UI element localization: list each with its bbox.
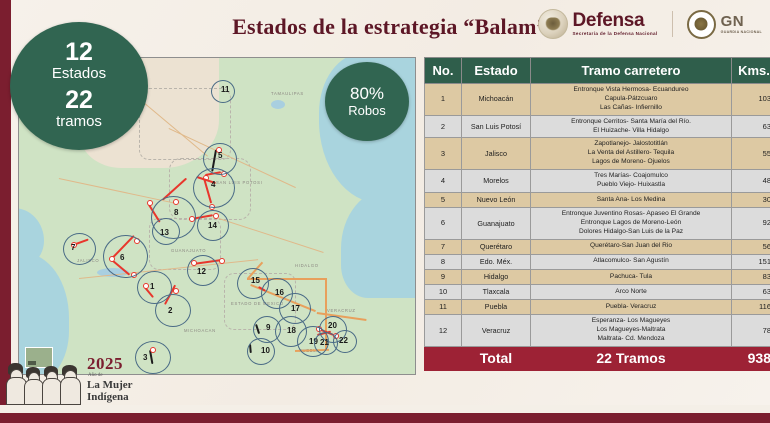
cell-tramo: Pachuca- Tula bbox=[531, 269, 732, 284]
cell-estado: San Luis Potosí bbox=[462, 115, 531, 138]
map-marker-12[interactable]: 12 bbox=[197, 267, 206, 276]
map-marker-6[interactable]: 6 bbox=[120, 253, 124, 262]
col-header-no: No. bbox=[425, 58, 462, 84]
total-tramos: 22 Tramos bbox=[531, 347, 732, 371]
cell-tramo: Entronque Juventino Rosas- Apaseo El Gra… bbox=[531, 208, 732, 240]
tramos-label: tramos bbox=[56, 113, 102, 132]
cell-no: 6 bbox=[425, 208, 462, 240]
cell-estado: Guanajuato bbox=[462, 208, 531, 240]
cell-no: 12 bbox=[425, 315, 462, 347]
indigenous-women-illustration-icon bbox=[6, 361, 84, 405]
cell-kms: 103 bbox=[732, 84, 770, 116]
cell-kms: 63 bbox=[732, 115, 770, 138]
cell-estado: Nuevo León bbox=[462, 192, 531, 207]
stat-bubble-estados: 12 Estados 22 tramos bbox=[10, 22, 148, 150]
map-marker-13[interactable]: 13 bbox=[160, 228, 169, 237]
cell-estado: Veracruz bbox=[462, 315, 531, 347]
map-state-label: TAMAULIPAS bbox=[271, 91, 304, 96]
map-marker-20[interactable]: 20 bbox=[328, 321, 337, 330]
cell-kms: 63 bbox=[732, 285, 770, 300]
map-marker-4[interactable]: 4 bbox=[211, 180, 215, 189]
robos-label: Robos bbox=[348, 103, 386, 119]
map-marker-1[interactable]: 1 bbox=[150, 282, 154, 291]
map-state-label: HIDALGO bbox=[295, 263, 319, 268]
cell-kms: 116 bbox=[732, 300, 770, 315]
cell-tramo: Esperanza- Los MagueyesLos Magueyes-Malt… bbox=[531, 315, 732, 347]
cell-estado: Jalisco bbox=[462, 138, 531, 170]
tramos-table: No. Estado Tramo carretero Kms. 1Michoac… bbox=[424, 57, 770, 371]
cell-tramo: Atlacomulco- San Agustín bbox=[531, 254, 732, 269]
page-title: Estados de la estrategia “Balam” bbox=[200, 14, 580, 40]
cell-tramo: Entronque Vista Hermosa- EcuandureoCapul… bbox=[531, 84, 732, 116]
cell-kms: 151 bbox=[732, 254, 770, 269]
cell-kms: 78 bbox=[732, 315, 770, 347]
stat-bubble-robos: 80% Robos bbox=[325, 62, 409, 141]
cell-no: 11 bbox=[425, 300, 462, 315]
gn-logo-subtitle: GUARDIA NACIONAL bbox=[721, 31, 762, 35]
map-marker-14[interactable]: 14 bbox=[208, 221, 217, 230]
footer-line-1: La Mujer bbox=[87, 379, 133, 392]
table-row: 2San Luis PotosíEntronque Cerritos- Sant… bbox=[425, 115, 770, 138]
cell-kms: 48 bbox=[732, 170, 770, 193]
footer-line-2: Indígena bbox=[87, 391, 133, 404]
map-marker-22[interactable]: 22 bbox=[339, 336, 348, 345]
cell-kms: 56 bbox=[732, 239, 770, 254]
cell-kms: 83 bbox=[732, 269, 770, 284]
cell-estado: Michoacán bbox=[462, 84, 531, 116]
map-marker-9[interactable]: 9 bbox=[266, 323, 270, 332]
estados-label: Estados bbox=[52, 65, 106, 84]
tramos-count: 22 bbox=[65, 88, 93, 113]
robos-percent: 80% bbox=[350, 84, 384, 104]
table-row: 12VeracruzEsperanza- Los MagueyesLos Mag… bbox=[425, 315, 770, 347]
tramos-table-wrapper: No. Estado Tramo carretero Kms. 1Michoac… bbox=[424, 57, 756, 371]
header-logos: Defensa Secretaría de la Defensa Naciona… bbox=[538, 2, 763, 46]
map-marker-7[interactable]: 7 bbox=[71, 243, 75, 252]
map-state-label: VERACRUZ bbox=[327, 308, 356, 313]
cell-estado: Morelos bbox=[462, 170, 531, 193]
total-label: Total bbox=[462, 347, 531, 371]
map-marker-5[interactable]: 5 bbox=[218, 151, 222, 160]
eagle-seal-icon bbox=[538, 9, 568, 39]
cell-estado: Querétaro bbox=[462, 239, 531, 254]
table-row: 4MorelosTres Marías- CoajomulcoPueblo Vi… bbox=[425, 170, 770, 193]
estados-count: 12 bbox=[65, 40, 93, 65]
cell-tramo: Tres Marías- CoajomulcoPueblo Viejo- Hui… bbox=[531, 170, 732, 193]
cell-kms: 55 bbox=[732, 138, 770, 170]
table-total-row: Total 22 Tramos 938 bbox=[425, 347, 770, 371]
cell-no: 3 bbox=[425, 138, 462, 170]
map-state-label: MICHOACAN bbox=[184, 328, 216, 333]
cell-kms: 92 bbox=[732, 208, 770, 240]
map-marker-10[interactable]: 10 bbox=[261, 346, 270, 355]
cell-no: 10 bbox=[425, 285, 462, 300]
map-marker-18[interactable]: 18 bbox=[287, 326, 296, 335]
total-kms: 938 bbox=[732, 347, 770, 371]
col-header-kms: Kms. bbox=[732, 58, 770, 84]
table-body: 1MichoacánEntronque Vista Hermosa- Ecuan… bbox=[425, 84, 770, 347]
col-header-estado: Estado bbox=[462, 58, 531, 84]
table-row: 9HidalgoPachuca- Tula83 bbox=[425, 269, 770, 284]
cell-kms: 30 bbox=[732, 192, 770, 207]
defensa-logo-subtitle: Secretaría de la Defensa Nacional bbox=[573, 32, 658, 37]
cell-no: 8 bbox=[425, 254, 462, 269]
cell-estado: Edo. Méx. bbox=[462, 254, 531, 269]
map-marker-2[interactable]: 2 bbox=[168, 306, 172, 315]
defensa-logo-title: Defensa bbox=[573, 11, 658, 30]
cell-tramo: Santa Ana- Los Medina bbox=[531, 192, 732, 207]
col-header-tramo: Tramo carretero bbox=[531, 58, 732, 84]
table-row: 8Edo. Méx.Atlacomulco- San Agustín151 bbox=[425, 254, 770, 269]
map-marker-21[interactable]: 21 bbox=[320, 338, 329, 347]
cell-estado: Puebla bbox=[462, 300, 531, 315]
map-marker-17[interactable]: 17 bbox=[291, 304, 300, 313]
footer-subtitle: Año de bbox=[88, 373, 133, 378]
cell-tramo: Arco Norte bbox=[531, 285, 732, 300]
table-row: 5Nuevo LeónSanta Ana- Los Medina30 bbox=[425, 192, 770, 207]
cell-tramo: Puebla- Veracruz bbox=[531, 300, 732, 315]
map-marker-8[interactable]: 8 bbox=[174, 208, 178, 217]
total-blank bbox=[425, 347, 462, 371]
table-row: 1MichoacánEntronque Vista Hermosa- Ecuan… bbox=[425, 84, 770, 116]
table-row: 11PueblaPuebla- Veracruz116 bbox=[425, 300, 770, 315]
cell-no: 4 bbox=[425, 170, 462, 193]
map-marker-16[interactable]: 16 bbox=[275, 288, 284, 297]
map-state-label: GUANAJUATO bbox=[171, 248, 206, 253]
gn-logo-title: GN bbox=[721, 14, 762, 29]
cell-tramo: Zapotlanejo- JalostotitlánLa Venta del A… bbox=[531, 138, 732, 170]
gn-seal-icon bbox=[687, 10, 716, 39]
cell-no: 1 bbox=[425, 84, 462, 116]
defensa-logo: Defensa Secretaría de la Defensa Naciona… bbox=[538, 9, 658, 39]
table-row: 6GuanajuatoEntronque Juventino Rosas- Ap… bbox=[425, 208, 770, 240]
map-marker-15[interactable]: 15 bbox=[251, 276, 260, 285]
cell-no: 5 bbox=[425, 192, 462, 207]
footer-year: 2025 bbox=[87, 355, 133, 372]
table-header-row: No. Estado Tramo carretero Kms. bbox=[425, 58, 770, 84]
table-row: 10TlaxcalaArco Norte63 bbox=[425, 285, 770, 300]
gn-logo: GN GUARDIA NACIONAL bbox=[687, 10, 762, 39]
table-row: 3JaliscoZapotlanejo- JalostotitlánLa Ven… bbox=[425, 138, 770, 170]
slide-root: Estados de la estrategia “Balam” Defensa… bbox=[0, 0, 770, 423]
map-marker-11[interactable]: 11 bbox=[221, 85, 229, 94]
cell-estado: Tlaxcala bbox=[462, 285, 531, 300]
cell-no: 9 bbox=[425, 269, 462, 284]
cell-no: 2 bbox=[425, 115, 462, 138]
logo-divider bbox=[672, 11, 673, 37]
cell-tramo: Entronque Cerritos- Santa María del Río.… bbox=[531, 115, 732, 138]
cell-estado: Hidalgo bbox=[462, 269, 531, 284]
left-accent-bar bbox=[0, 0, 11, 405]
year-campaign-logo: 2025 Año de La Mujer Indígena bbox=[6, 359, 156, 405]
bottom-bar-gap bbox=[0, 405, 770, 413]
cell-no: 7 bbox=[425, 239, 462, 254]
table-row: 7QuerétaroQuerétaro-San Juan del Rio56 bbox=[425, 239, 770, 254]
cell-tramo: Querétaro-San Juan del Rio bbox=[531, 239, 732, 254]
